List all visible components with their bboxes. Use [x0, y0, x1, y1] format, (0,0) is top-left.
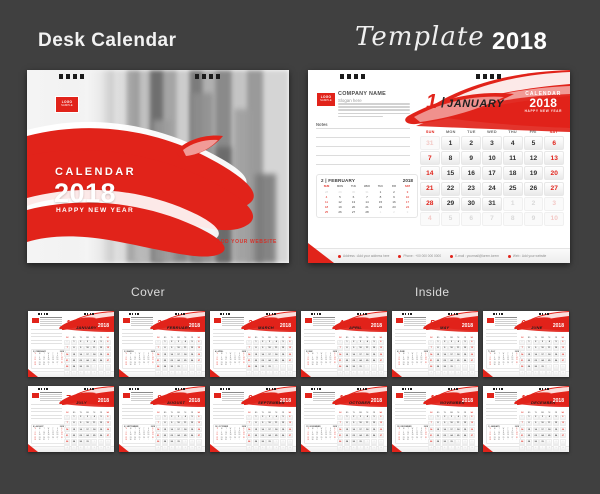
mini-day-cell[interactable]: 19	[334, 205, 347, 210]
thumb-day-cell: 17	[539, 427, 545, 433]
thumb-notes-lines	[304, 329, 335, 347]
thumb-day-cell: 31	[64, 340, 70, 346]
mini-day-cell[interactable]: 5	[334, 195, 347, 200]
thumb-day-cell: 8	[273, 445, 279, 451]
cover-page[interactable]: LOGO SAMPLE CALENDAR 2018 HAPPY NEW YEAR…	[27, 70, 289, 263]
day-cell[interactable]: 8	[441, 151, 461, 165]
thumb-day-cell: 8	[162, 346, 168, 352]
thumb-day-cell: 30	[260, 439, 266, 445]
thumb-day-cell: 5	[371, 415, 377, 421]
notes-lines[interactable]	[316, 128, 410, 173]
thumb-day-cell: 20	[287, 352, 293, 358]
thumb-day-cell: 4	[428, 445, 434, 451]
thumb-day-cell: 19	[462, 427, 468, 433]
thumb-day-cell: 26	[189, 358, 195, 364]
day-cell[interactable]: 26	[524, 182, 544, 196]
thumb-month-number: 2	[157, 320, 161, 328]
thumb-notes-lines	[304, 404, 335, 422]
thumb-day-cell: 11	[455, 346, 461, 352]
thumb-day-cell: 5	[344, 445, 350, 451]
thumb-day-cell: 15	[435, 352, 441, 358]
thumb-day-cell: 25	[91, 433, 97, 439]
thumb-day-cell: 11	[91, 421, 97, 427]
day-cell[interactable]: 5	[441, 212, 461, 226]
thumb-year: 2018	[280, 323, 291, 329]
day-cell[interactable]: 7	[420, 151, 440, 165]
thumb-logo-box	[122, 392, 131, 399]
thumb-day-cell: 5	[462, 415, 468, 421]
thumb-day-cell: 3	[560, 439, 566, 445]
company-description-placeholder	[338, 103, 410, 119]
day-cell[interactable]: 9	[461, 151, 481, 165]
thumb-day-cell: 25	[455, 433, 461, 439]
thumb-day-cell: 7	[448, 445, 454, 451]
thumb-day-cell: 3	[448, 415, 454, 421]
thumb-day-cell: 26	[462, 433, 468, 439]
thumb-day-cell: 24	[84, 358, 90, 364]
thumb-day-cell: 21	[519, 433, 525, 439]
thumb-day-cell: 3	[357, 340, 363, 346]
thumb-day-cell: 4	[182, 340, 188, 346]
thumb-day-cell: 2	[260, 415, 266, 421]
thumb-day-cell: 21	[246, 358, 252, 364]
month-thumbnail[interactable]: 7JULY20188 | AUGUST2018SMTWTFS1234567891…	[28, 386, 114, 452]
thumb-day-cell: 26	[98, 358, 104, 364]
cover-logo-box[interactable]: LOGO SAMPLE	[55, 96, 79, 113]
thumb-day-cell: 29	[71, 364, 77, 370]
thumb-day-cell: 2	[189, 364, 195, 370]
thumb-day-cell: 8	[182, 445, 188, 451]
thumb-day-cell: 10	[539, 421, 545, 427]
thumb-day-cell: 1	[273, 364, 279, 370]
thumb-weekday: MO	[162, 338, 169, 339]
mini-day-cell[interactable]: 14	[361, 200, 374, 205]
thumb-day-cell: 3	[357, 415, 363, 421]
thumb-day-cell: 3	[448, 340, 454, 346]
mini-day-cell[interactable]: 28	[361, 210, 374, 215]
thumb-day-cell: 13	[105, 346, 111, 352]
day-cell[interactable]: 2	[524, 197, 544, 211]
thumb-day-cell: 10	[469, 370, 475, 376]
thumb-weekday: SU	[519, 413, 526, 414]
day-cell[interactable]: 24	[482, 182, 502, 196]
month-thumbnail[interactable]: 3MARCH20184 | APRIL2018SMTWTFS1234567891…	[210, 311, 296, 377]
thumb-day-cell: 20	[469, 352, 475, 358]
header-year: 2018	[492, 28, 547, 56]
thumb-day-cell: 10	[560, 445, 566, 451]
thumb-day-cell: 9	[351, 346, 357, 352]
thumb-day-cell: 9	[462, 370, 468, 376]
thumb-weekday: TH	[273, 413, 280, 414]
thumb-weekday: TH	[546, 338, 553, 339]
thumb-day-cell: 2	[78, 415, 84, 421]
month-thumbnail[interactable]: 12DECEMBER20181 | JANUARY2018SMTWTFS1234…	[483, 386, 569, 452]
thumb-day-cell: 10	[105, 370, 111, 376]
month-thumbnail[interactable]: 4APRIL20185 | MAY2018SMTWTFS123456789101…	[301, 311, 387, 377]
mini-day-cell[interactable]: 29	[334, 190, 347, 195]
thumb-weekday: TH	[546, 413, 553, 414]
thumb-day-cell: 10	[378, 445, 384, 451]
thumb-day-cell: 7	[84, 445, 90, 451]
thumb-day-cell: 6	[287, 340, 293, 346]
thumb-day-cell: 7	[155, 421, 161, 427]
thumb-weekday: SU	[428, 338, 435, 339]
day-cell[interactable]: 7	[482, 212, 502, 226]
month-thumbnail[interactable]: 6JUNE20187 | JULY2018SMTWTFS123456789101…	[483, 311, 569, 377]
thumb-day-cell: 25	[364, 358, 370, 364]
thumb-day-cell: 5	[71, 445, 77, 451]
thumb-day-cell: 3	[84, 340, 90, 346]
thumb-day-cell: 31	[246, 415, 252, 421]
thumb-day-cell: 11	[364, 421, 370, 427]
thumb-day-cell: 29	[435, 439, 441, 445]
thumb-weekday: FR	[371, 338, 378, 339]
thumb-year: 2018	[280, 398, 291, 404]
mini-day-cell[interactable]: 10	[401, 195, 414, 200]
mini-day-cell[interactable]: 24	[401, 205, 414, 210]
day-cell[interactable]: 4	[503, 136, 523, 150]
mini-day-cell[interactable]: 3	[401, 190, 414, 195]
thumb-day-cell: 23	[260, 358, 266, 364]
thumb-day-cell: 6	[351, 445, 357, 451]
thumb-day-cell: 24	[539, 433, 545, 439]
day-cell[interactable]: 31	[420, 136, 440, 150]
mini-day-cell[interactable]: 4	[320, 195, 333, 200]
day-cell[interactable]: 9	[524, 212, 544, 226]
thumb-notes-lines	[213, 329, 244, 347]
thumb-day-cell: 12	[280, 346, 286, 352]
thumb-day-cell: 2	[189, 439, 195, 445]
thumb-day-cell: 10	[448, 421, 454, 427]
thumb-weekday: TH	[455, 413, 462, 414]
mini-day-cell[interactable]: 17	[401, 200, 414, 205]
day-cell[interactable]: 15	[441, 166, 461, 180]
thumb-weekday: TH	[91, 338, 98, 339]
mini-day-cell[interactable]: 30	[347, 190, 360, 195]
thumb-day-cell: 31	[539, 364, 545, 370]
thumb-day-cell: 30	[442, 439, 448, 445]
thumb-day-cell: 20	[105, 352, 111, 358]
thumb-weekday: WE	[84, 338, 91, 339]
mini-day-cell[interactable]: 8	[374, 195, 387, 200]
thumb-day-cell: 12	[462, 346, 468, 352]
thumb-day-cell: 17	[266, 427, 272, 433]
thumb-day-cell: 16	[78, 427, 84, 433]
mini-day-cell[interactable]: 21	[361, 205, 374, 210]
thumb-company-lines	[404, 317, 426, 326]
inside-page[interactable]: LOGO SAMPLE COMPANY NAME Slogan here Not…	[308, 70, 570, 263]
day-cell[interactable]: 6	[461, 212, 481, 226]
mini-day-cell[interactable]: 9	[388, 195, 401, 200]
thumb-day-cell: 6	[351, 370, 357, 376]
footer-contact-text: Address : Add your address here	[343, 254, 389, 258]
thumb-weekday: TH	[455, 338, 462, 339]
day-cell[interactable]: 23	[461, 182, 481, 196]
thumb-day-cell: 29	[162, 364, 168, 370]
thumb-day-cell: 19	[553, 427, 559, 433]
thumb-day-cell: 5	[280, 340, 286, 346]
mini-day-cell[interactable]: 15	[374, 200, 387, 205]
mini-day-cell[interactable]: 1	[374, 190, 387, 195]
thumb-binding-holes-left	[493, 388, 503, 390]
day-cell[interactable]: 16	[461, 166, 481, 180]
thumb-logo-box	[395, 392, 404, 399]
thumb-day-cell: 5	[189, 415, 195, 421]
thumb-day-cell: 1	[71, 340, 77, 346]
thumb-day-cell: 17	[539, 352, 545, 358]
thumb-weekday: MO	[71, 413, 78, 414]
month-thumbnail[interactable]: 2FEBRUARY20183 | MARCH2018SMTWTFS1234567…	[119, 311, 205, 377]
thumb-notes-lines	[486, 329, 517, 347]
footer-contact-text: E-mail : yourmail@lorem.lorem	[455, 254, 499, 258]
month-thumbnail[interactable]: 8AUGUST20189 | SEPTEMBER2018SMTWTFS12345…	[119, 386, 205, 452]
thumb-day-cell: 9	[189, 370, 195, 376]
thumb-day-cell: 6	[378, 340, 384, 346]
day-cell[interactable]: 10	[544, 212, 564, 226]
thumb-day-cell: 12	[189, 421, 195, 427]
thumb-day-cell: 4	[155, 370, 161, 376]
thumb-month-number: 5	[430, 320, 434, 328]
thumb-day-cell: 16	[351, 352, 357, 358]
thumb-day-cell: 13	[105, 421, 111, 427]
mini-day-cell[interactable]: 6	[347, 195, 360, 200]
day-cell[interactable]: 10	[482, 151, 502, 165]
company-block: COMPANY NAME Slogan here	[338, 91, 386, 103]
month-separator: /	[441, 94, 445, 110]
thumb-day-cell: 21	[337, 433, 343, 439]
thumb-weekday: SU	[246, 338, 253, 339]
thumb-day-cell: 16	[260, 427, 266, 433]
thumb-day-cell: 10	[448, 346, 454, 352]
mini-day-cell[interactable]: 23	[388, 205, 401, 210]
day-cell[interactable]: 3	[544, 197, 564, 211]
day-cell[interactable]: 4	[420, 212, 440, 226]
mini-day-cell[interactable]: 18	[320, 205, 333, 210]
day-cell[interactable]: 20	[544, 166, 564, 180]
logo-line-2: SAMPLE	[61, 105, 73, 108]
thumb-day-cell: 1	[91, 439, 97, 445]
thumb-day-cell: 13	[560, 421, 566, 427]
thumb-day-cell: 16	[260, 352, 266, 358]
thumb-day-cell: 1	[162, 340, 168, 346]
mini-day-cell[interactable]: 2	[388, 190, 401, 195]
thumb-day-cell: 4	[246, 445, 252, 451]
thumb-day-cell: 19	[371, 352, 377, 358]
day-cell[interactable]: 27	[544, 182, 564, 196]
mini-day-cell[interactable]: 28	[320, 190, 333, 195]
thumb-day-cell: 27	[105, 358, 111, 364]
mini-day-cell[interactable]: 1	[374, 210, 387, 215]
day-cell[interactable]: 29	[441, 197, 461, 211]
mini-day-cell[interactable]: 2	[388, 210, 401, 215]
thumb-day-cell: 27	[560, 358, 566, 364]
thumb-day-cell: 16	[533, 352, 539, 358]
thumb-logo-box	[304, 392, 313, 399]
thumb-day-cell: 2	[98, 364, 104, 370]
day-cell[interactable]: 12	[524, 151, 544, 165]
day-cell[interactable]: 5	[524, 136, 544, 150]
thumb-day-cell: 1	[344, 340, 350, 346]
logo-line-2: SAMPLE	[320, 100, 332, 103]
thumb-day-cell: 3	[105, 364, 111, 370]
thumb-day-cell: 29	[344, 364, 350, 370]
thumb-day-cell: 6	[169, 370, 175, 376]
thumb-day-cell: 20	[196, 427, 202, 433]
day-cell[interactable]: 14	[420, 166, 440, 180]
inside-logo-box[interactable]: LOGO SAMPLE	[316, 92, 336, 107]
weekday-thu: THU	[502, 130, 523, 134]
month-thumbnail[interactable]: 9SEPTEMBER201810 | OCTOBER2018SMTWTFS123…	[210, 386, 296, 452]
thumb-mini-calendar: 4 | APRIL2018SMTWTFS12345678910111213141…	[213, 349, 248, 369]
thumb-day-cell: 15	[253, 427, 259, 433]
thumb-day-cell: 24	[357, 433, 363, 439]
day-cell[interactable]: 18	[503, 166, 523, 180]
thumb-weekday: SU	[519, 338, 526, 339]
thumb-day-cell: 2	[351, 415, 357, 421]
weekday-sat: SAT	[543, 130, 564, 134]
day-cell[interactable]: 28	[420, 197, 440, 211]
thumb-day-cell: 5	[435, 445, 441, 451]
label-inside: Inside	[415, 285, 449, 299]
weekday-wed: WED	[482, 130, 503, 134]
mini-day-cell[interactable]: 22	[374, 205, 387, 210]
thumb-weekday: WE	[448, 338, 455, 339]
thumb-weekday: SA	[559, 338, 566, 339]
thumb-day-cell: 21	[64, 358, 70, 364]
thumb-day-cell: 19	[371, 427, 377, 433]
thumb-year: 2018	[98, 398, 109, 404]
mini-day-cell[interactable]: 11	[320, 200, 333, 205]
mini-day-cell[interactable]: 26	[334, 210, 347, 215]
day-cell[interactable]: 19	[524, 166, 544, 180]
thumb-day-cell: 28	[155, 364, 161, 370]
thumb-day-cell: 26	[280, 433, 286, 439]
thumb-day-cell: 4	[273, 415, 279, 421]
thumb-weekday: TU	[532, 338, 539, 339]
day-cell[interactable]: 30	[461, 197, 481, 211]
thumb-day-cell: 25	[91, 358, 97, 364]
thumb-day-cell: 9	[260, 421, 266, 427]
thumb-day-cell: 6	[260, 370, 266, 376]
thumb-day-cell: 6	[196, 340, 202, 346]
thumb-day-cell: 23	[351, 358, 357, 364]
thumb-day-cell: 11	[273, 421, 279, 427]
thumb-day-cell: 18	[455, 427, 461, 433]
thumb-weekday: SA	[286, 413, 293, 414]
mini-day-cell[interactable]: 27	[347, 210, 360, 215]
thumb-weekday: MO	[71, 338, 78, 339]
thumb-month-grid: SUMOTUWETHFRSA31123456789101112131415161…	[246, 413, 293, 451]
thumb-mini-calendar: 6 | JUNE2018SMTWTFS123456789101112131415…	[395, 349, 430, 369]
thumb-day-cell: 8	[526, 421, 532, 427]
thumb-day-cell: 24	[266, 433, 272, 439]
thumb-day-cell: 5	[344, 370, 350, 376]
thumb-year: 2018	[462, 398, 473, 404]
thumb-day-cell: 31	[539, 439, 545, 445]
thumb-month-grid: SUMOTUWETHFRSA31123456789101112131415161…	[519, 413, 566, 451]
thumb-weekday: SA	[377, 338, 384, 339]
thumb-day-cell: 5	[553, 340, 559, 346]
mini-day-cell[interactable]: 16	[388, 200, 401, 205]
thumb-day-cell: 20	[560, 352, 566, 358]
mini-calendar[interactable]: 2 | FEBRUARY 2018 SUNMONTUEWEDTHUFRISAT2…	[316, 174, 418, 218]
day-cell[interactable]: 31	[482, 197, 502, 211]
month-thumbnail[interactable]: 10OCTOBER201811 | NOVEMBER2018SMTWTFS123…	[301, 386, 387, 452]
thumb-day-cell: 17	[84, 427, 90, 433]
day-cell[interactable]: 21	[420, 182, 440, 196]
thumb-day-cell: 13	[469, 421, 475, 427]
weekday-mon: MON	[441, 130, 462, 134]
day-cell[interactable]: 3	[482, 136, 502, 150]
day-cell[interactable]: 1	[441, 136, 461, 150]
thumb-day-cell: 24	[448, 358, 454, 364]
thumb-day-cell: 8	[455, 445, 461, 451]
mini-day-cell[interactable]: 20	[347, 205, 360, 210]
day-cell[interactable]: 6	[544, 136, 564, 150]
thumb-logo-box	[213, 317, 222, 324]
thumb-day-cell: 22	[71, 358, 77, 364]
thumb-day-cell: 13	[196, 346, 202, 352]
thumb-day-cell: 12	[553, 346, 559, 352]
thumb-day-cell: 14	[337, 427, 343, 433]
mini-day-cell[interactable]: 31	[361, 190, 374, 195]
day-cell[interactable]: 8	[503, 212, 523, 226]
month-thumbnail[interactable]: 1JANUARY20182 | FEBRUARY2018SMTWTFS12345…	[28, 311, 114, 377]
mini-day-cell[interactable]: 13	[347, 200, 360, 205]
thumb-day-cell: 3	[378, 439, 384, 445]
mini-day-cell[interactable]: 7	[361, 195, 374, 200]
day-cell[interactable]: 2	[461, 136, 481, 150]
thumb-day-cell: 6	[196, 415, 202, 421]
thumb-day-cell: 25	[455, 358, 461, 364]
thumb-day-cell: 4	[455, 340, 461, 346]
thumb-day-cell: 25	[546, 358, 552, 364]
day-cell[interactable]: 25	[503, 182, 523, 196]
thumb-day-cell: 2	[169, 340, 175, 346]
thumb-day-cell: 18	[364, 427, 370, 433]
day-cell[interactable]: 13	[544, 151, 564, 165]
thumb-day-cell: 4	[337, 370, 343, 376]
mini-day-cell[interactable]: 25	[320, 210, 333, 215]
thumb-weekday: TH	[273, 338, 280, 339]
thumb-day-cell: 4	[64, 445, 70, 451]
thumb-day-cell: 1	[91, 364, 97, 370]
month-thumbnail[interactable]: 11NOVEMBER201812 | DECEMBER2018SMTWTFS12…	[392, 386, 478, 452]
thumb-day-cell: 18	[273, 427, 279, 433]
thumb-month-grid: SUMOTUWETHFRSA31123456789101112131415161…	[337, 338, 384, 376]
mini-day-cell[interactable]: 3	[401, 210, 414, 215]
mini-calendar-grid: SUNMONTUEWEDTHUFRISAT2829303112345678910…	[320, 185, 414, 215]
day-cell[interactable]: 11	[503, 151, 523, 165]
month-thumbnail[interactable]: 5MAY20186 | JUNE2018SMTWTFS1234567891011…	[392, 311, 478, 377]
thumb-day-cell: 20	[378, 352, 384, 358]
thumb-mini-calendar: 7 | JULY2018SMTWTFS123456789101112131415…	[486, 349, 521, 369]
mini-day-cell[interactable]: 12	[334, 200, 347, 205]
day-cell[interactable]: 1	[503, 197, 523, 211]
mini-weekday: SUN	[320, 185, 333, 190]
thumb-weekday: SU	[155, 338, 162, 339]
thumb-day-cell: 8	[162, 421, 168, 427]
thumb-binding-holes-right	[539, 313, 549, 315]
footer-contact-item: Address : Add your address here	[338, 254, 389, 258]
thumb-day-cell: 7	[175, 370, 181, 376]
thumb-day-cell: 14	[519, 427, 525, 433]
thumb-day-cell: 29	[162, 439, 168, 445]
thumb-day-cell: 5	[253, 370, 259, 376]
thumb-mini-calendar: 1 | JANUARY2018SMTWTFS123456789101112131…	[486, 424, 521, 444]
day-cell[interactable]: 22	[441, 182, 461, 196]
day-cell[interactable]: 17	[482, 166, 502, 180]
